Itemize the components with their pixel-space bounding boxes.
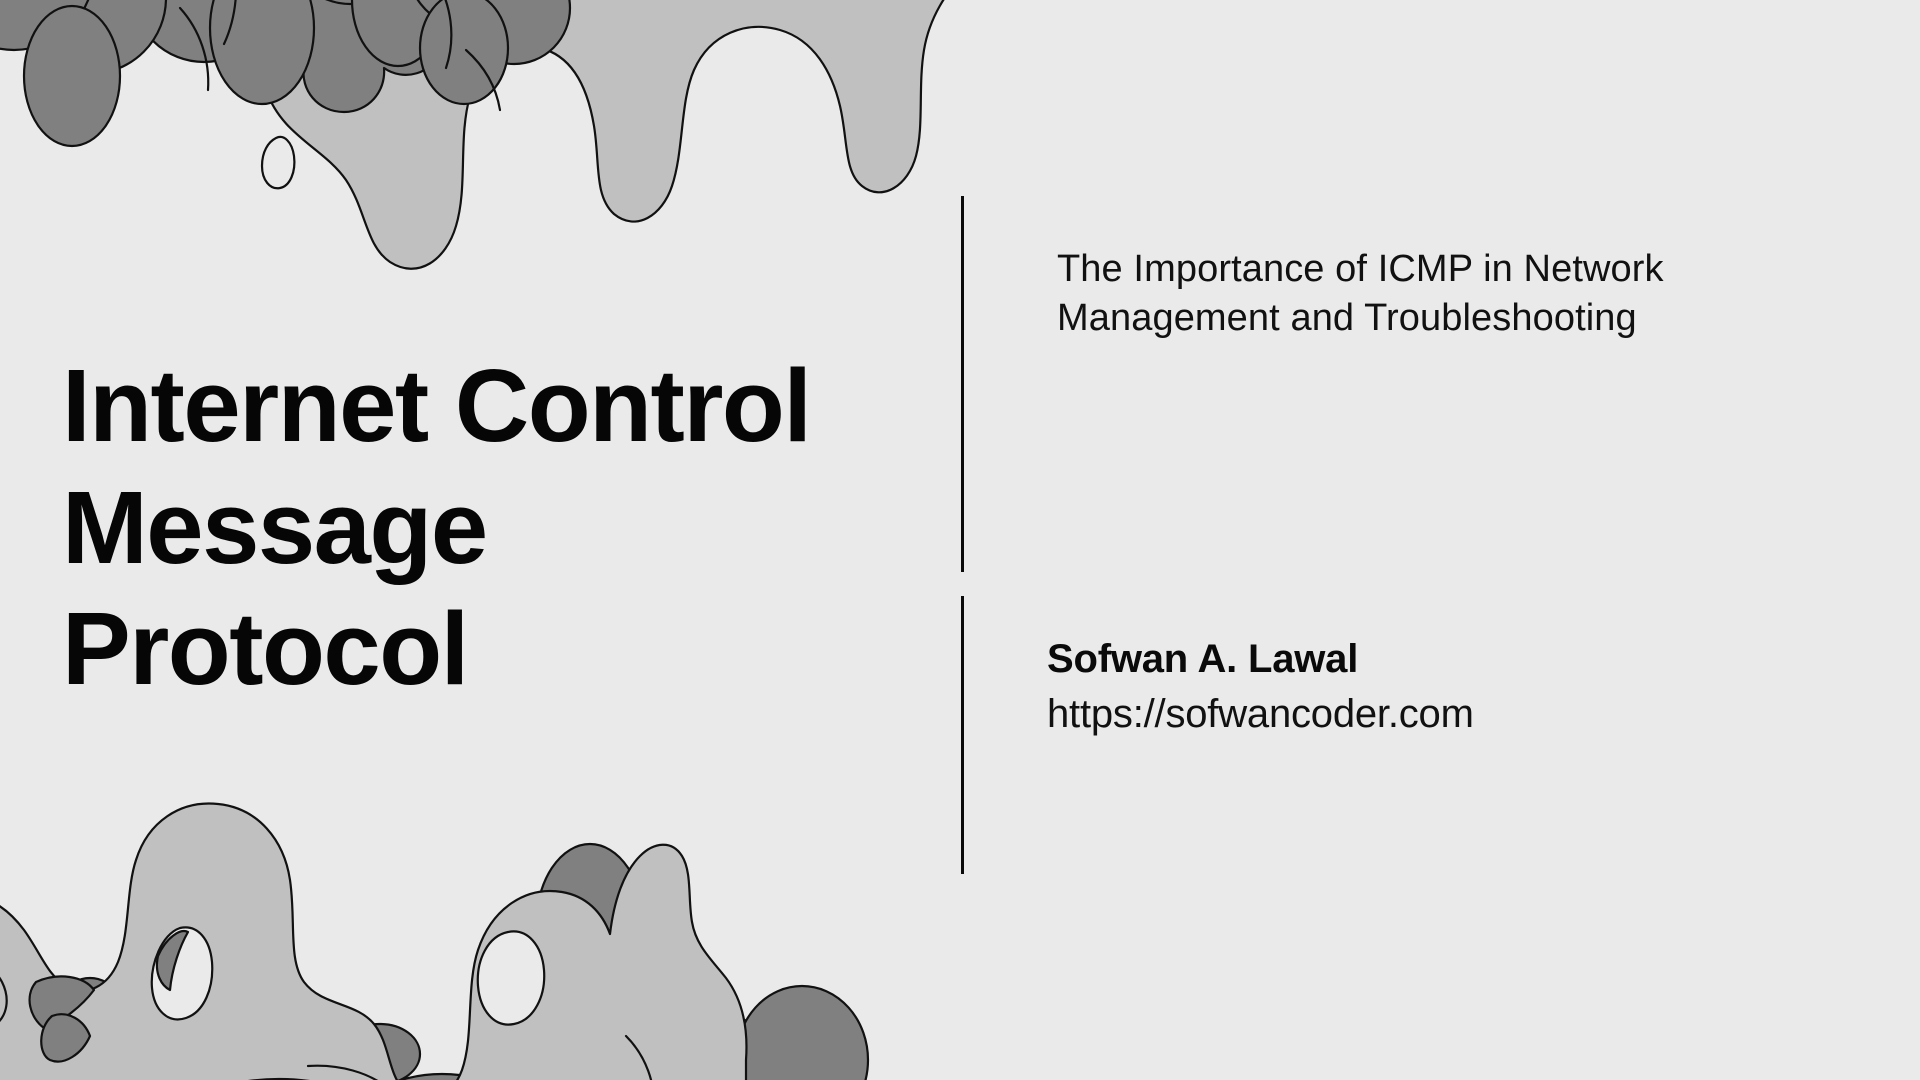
subtitle-vertical-rule xyxy=(961,196,964,572)
slide-subtitle: The Importance of ICMP in Network Manage… xyxy=(1057,245,1677,344)
author-vertical-rule xyxy=(961,596,964,874)
title-block: Internet Control Message Protocol xyxy=(62,345,902,710)
cloud-blob-decoration-top-left xyxy=(0,0,954,300)
page-title: Internet Control Message Protocol xyxy=(62,345,902,710)
title-slide: Internet Control Message Protocol The Im… xyxy=(0,0,1920,1080)
author-name: Sofwan A. Lawal xyxy=(1047,632,1747,687)
right-column: The Importance of ICMP in Network Manage… xyxy=(961,0,1920,1080)
author-url: https://sofwancoder.com xyxy=(1047,687,1747,742)
subtitle-block: The Importance of ICMP in Network Manage… xyxy=(1057,245,1677,344)
author-block: Sofwan A. Lawal https://sofwancoder.com xyxy=(1047,632,1747,742)
cloud-blob-decoration-bottom-left xyxy=(0,760,890,1080)
